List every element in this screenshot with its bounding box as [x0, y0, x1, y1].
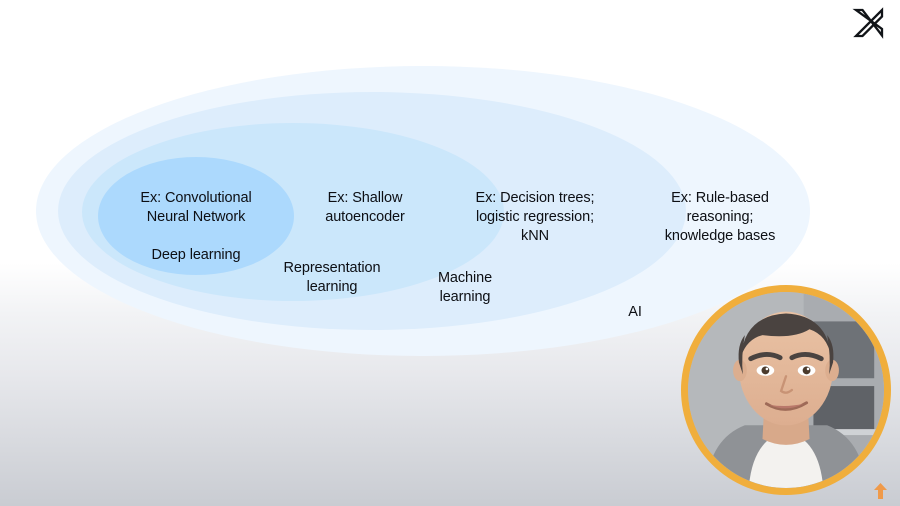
x-monogram-logo: [852, 6, 886, 40]
presenter-webcam[interactable]: [681, 285, 891, 495]
example-text-deep-learning: Ex: Convolutional Neural Network: [104, 189, 288, 227]
tier-label-ai: AI: [592, 303, 678, 322]
tier-label-machine-learning: Machine learning: [392, 269, 538, 307]
example-text-machine-learning: Ex: Decision trees; logistic regression;…: [440, 189, 630, 246]
slide-canvas: Ex: Convolutional Neural Network Ex: Sha…: [0, 0, 900, 506]
example-text-ai: Ex: Rule-based reasoning; knowledge base…: [627, 189, 813, 246]
arrow-up-icon[interactable]: [872, 482, 889, 500]
presenter-webcam-image: [688, 292, 884, 488]
tier-label-representation-learning: Representation learning: [252, 259, 412, 297]
example-text-representation-learning: Ex: Shallow autoencoder: [282, 189, 448, 227]
